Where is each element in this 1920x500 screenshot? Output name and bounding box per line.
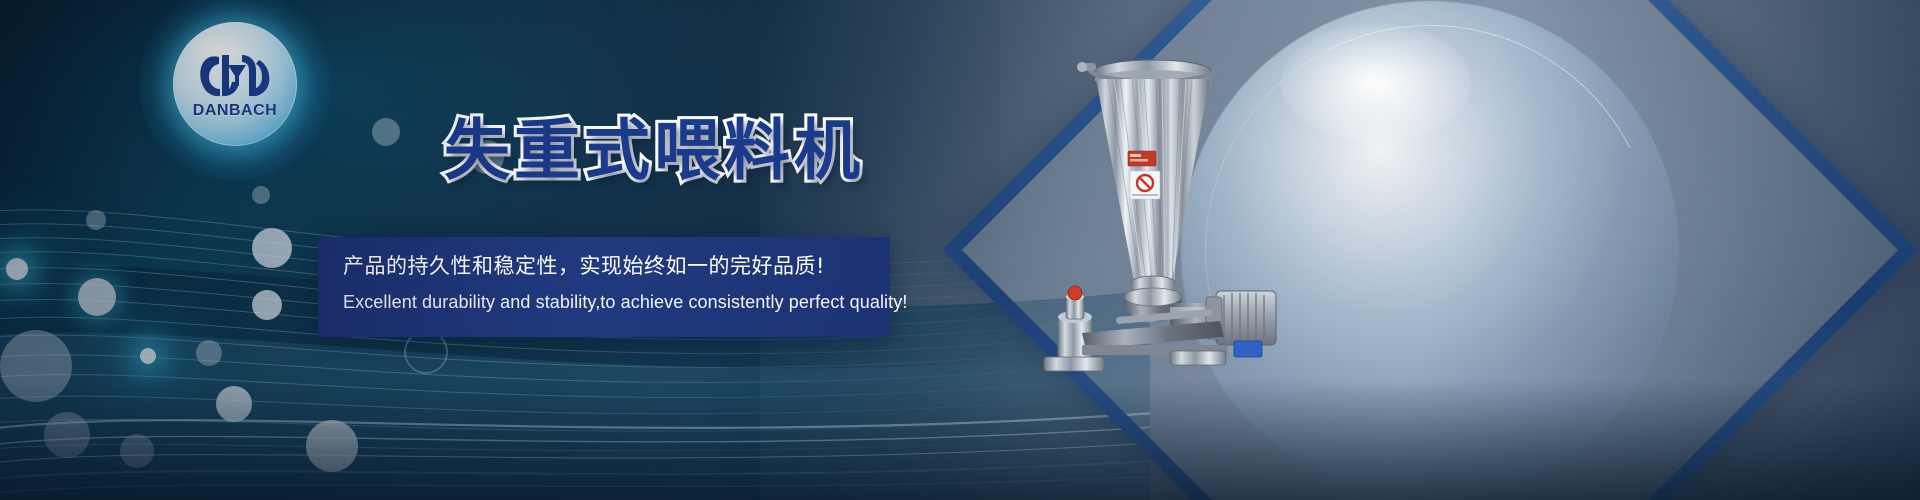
bottom-shadow-band [0,380,1920,500]
promo-banner: DANBACH 失重式喂料机 产品的持久性和稳定性，实现始终如一的完好品质! E… [0,0,1920,500]
